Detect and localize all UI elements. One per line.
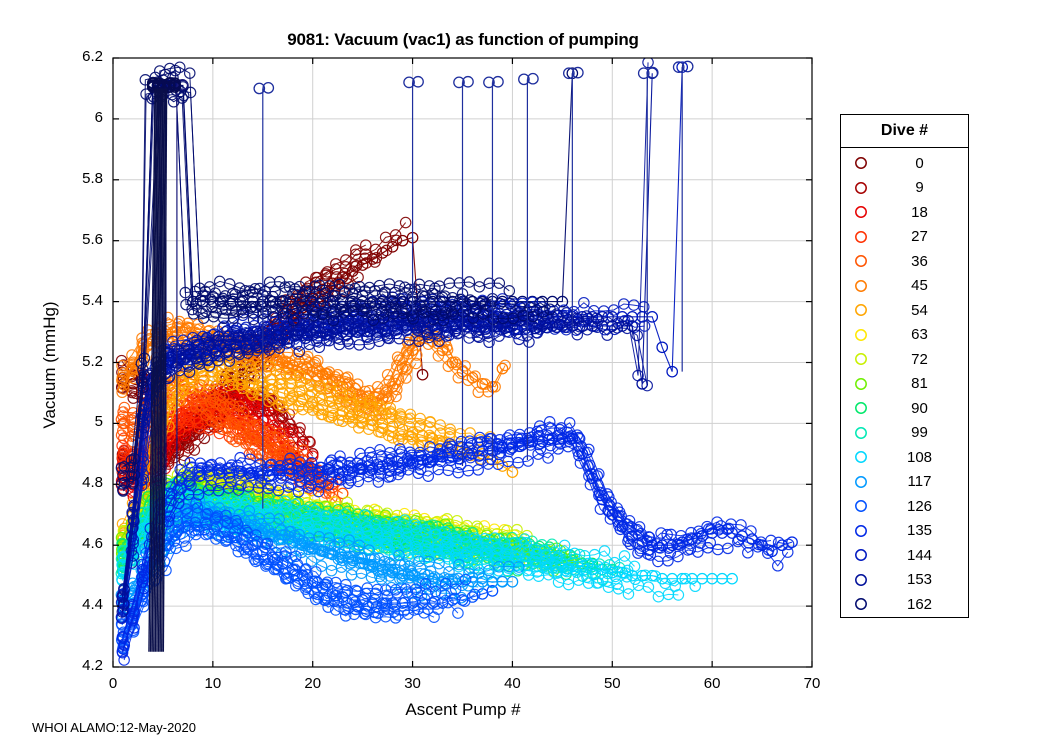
x-tick-label: 0 xyxy=(88,675,138,692)
legend-circle-icon xyxy=(841,426,881,440)
legend-circle-icon xyxy=(841,401,881,415)
legend-item-135[interactable]: 135 xyxy=(841,519,968,544)
legend-circle-icon xyxy=(841,352,881,366)
legend-item-72[interactable]: 72 xyxy=(841,347,968,372)
y-tick-label: 6.2 xyxy=(51,48,103,65)
spike-10 xyxy=(673,61,692,371)
legend-item-label: 153 xyxy=(881,571,968,588)
footer-note: WHOI ALAMO:12-May-2020 xyxy=(32,720,196,735)
legend-circle-icon xyxy=(841,548,881,562)
x-tick-label: 40 xyxy=(487,675,537,692)
legend-circle-icon xyxy=(841,303,881,317)
spike-6 xyxy=(484,77,503,460)
legend-item-153[interactable]: 153 xyxy=(841,568,968,593)
legend-item-108[interactable]: 108 xyxy=(841,445,968,470)
legend-item-81[interactable]: 81 xyxy=(841,372,968,397)
legend-circle-icon xyxy=(841,597,881,611)
y-tick-label: 4.4 xyxy=(51,596,103,613)
legend-item-90[interactable]: 90 xyxy=(841,396,968,421)
legend-item-label: 54 xyxy=(881,302,968,319)
legend-item-label: 9 xyxy=(881,179,968,196)
legend: Dive # 091827364554637281909910811712613… xyxy=(840,114,969,618)
figure-container: 9081: Vacuum (vac1) as function of pumpi… xyxy=(0,0,1050,750)
x-axis-label: Ascent Pump # xyxy=(113,700,813,720)
legend-item-54[interactable]: 54 xyxy=(841,298,968,323)
legend-circle-icon xyxy=(841,156,881,170)
legend-item-144[interactable]: 144 xyxy=(841,543,968,568)
y-tick-label: 4.2 xyxy=(51,657,103,674)
y-tick-label: 5.8 xyxy=(51,170,103,187)
legend-item-label: 27 xyxy=(881,228,968,245)
spike-4 xyxy=(404,77,423,314)
legend-item-label: 81 xyxy=(881,375,968,392)
y-tick-label: 5 xyxy=(51,413,103,430)
legend-item-126[interactable]: 126 xyxy=(841,494,968,519)
legend-item-18[interactable]: 18 xyxy=(841,200,968,225)
x-tick-label: 70 xyxy=(787,675,837,692)
legend-item-label: 108 xyxy=(881,449,968,466)
spike-5 xyxy=(454,77,473,466)
y-tick-label: 5.6 xyxy=(51,231,103,248)
legend-item-162[interactable]: 162 xyxy=(841,592,968,617)
legend-item-label: 45 xyxy=(881,277,968,294)
y-tick-label: 5.4 xyxy=(51,292,103,309)
legend-item-label: 63 xyxy=(881,326,968,343)
legend-circle-icon xyxy=(841,499,881,513)
legend-item-label: 162 xyxy=(881,596,968,613)
legend-item-9[interactable]: 9 xyxy=(841,176,968,201)
spike-7 xyxy=(519,74,538,460)
legend-item-36[interactable]: 36 xyxy=(841,249,968,274)
legend-circle-icon xyxy=(841,475,881,489)
legend-item-label: 126 xyxy=(881,498,968,515)
legend-items: 0918273645546372819099108117126135144153… xyxy=(841,148,968,617)
legend-item-label: 90 xyxy=(881,400,968,417)
legend-title: Dive # xyxy=(841,115,968,148)
x-tick-label: 10 xyxy=(188,675,238,692)
legend-item-label: 144 xyxy=(881,547,968,564)
legend-circle-icon xyxy=(841,254,881,268)
legend-item-label: 135 xyxy=(881,522,968,539)
legend-item-label: 72 xyxy=(881,351,968,368)
legend-circle-icon xyxy=(841,573,881,587)
legend-item-label: 36 xyxy=(881,253,968,270)
legend-item-63[interactable]: 63 xyxy=(841,323,968,348)
legend-item-27[interactable]: 27 xyxy=(841,225,968,250)
y-tick-label: 6 xyxy=(51,109,103,126)
legend-circle-icon xyxy=(841,181,881,195)
legend-item-45[interactable]: 45 xyxy=(841,274,968,299)
legend-item-99[interactable]: 99 xyxy=(841,421,968,446)
legend-circle-icon xyxy=(841,377,881,391)
legend-item-117[interactable]: 117 xyxy=(841,470,968,495)
y-tick-label: 4.8 xyxy=(51,474,103,491)
legend-item-label: 117 xyxy=(881,473,968,490)
y-tick-label: 5.2 xyxy=(51,353,103,370)
spike-9 xyxy=(639,67,658,383)
legend-item-0[interactable]: 0 xyxy=(841,151,968,176)
y-tick-label: 4.6 xyxy=(51,535,103,552)
legend-circle-icon xyxy=(841,230,881,244)
legend-circle-icon xyxy=(841,450,881,464)
legend-item-label: 18 xyxy=(881,204,968,221)
legend-circle-icon xyxy=(841,205,881,219)
x-tick-label: 60 xyxy=(687,675,737,692)
x-tick-label: 20 xyxy=(288,675,338,692)
x-tick-label: 30 xyxy=(388,675,438,692)
data-series-layer xyxy=(116,57,797,665)
legend-item-label: 99 xyxy=(881,424,968,441)
legend-item-label: 0 xyxy=(881,155,968,172)
legend-circle-icon xyxy=(841,328,881,342)
legend-circle-icon xyxy=(841,524,881,538)
x-tick-label: 50 xyxy=(587,675,637,692)
legend-circle-icon xyxy=(841,279,881,293)
